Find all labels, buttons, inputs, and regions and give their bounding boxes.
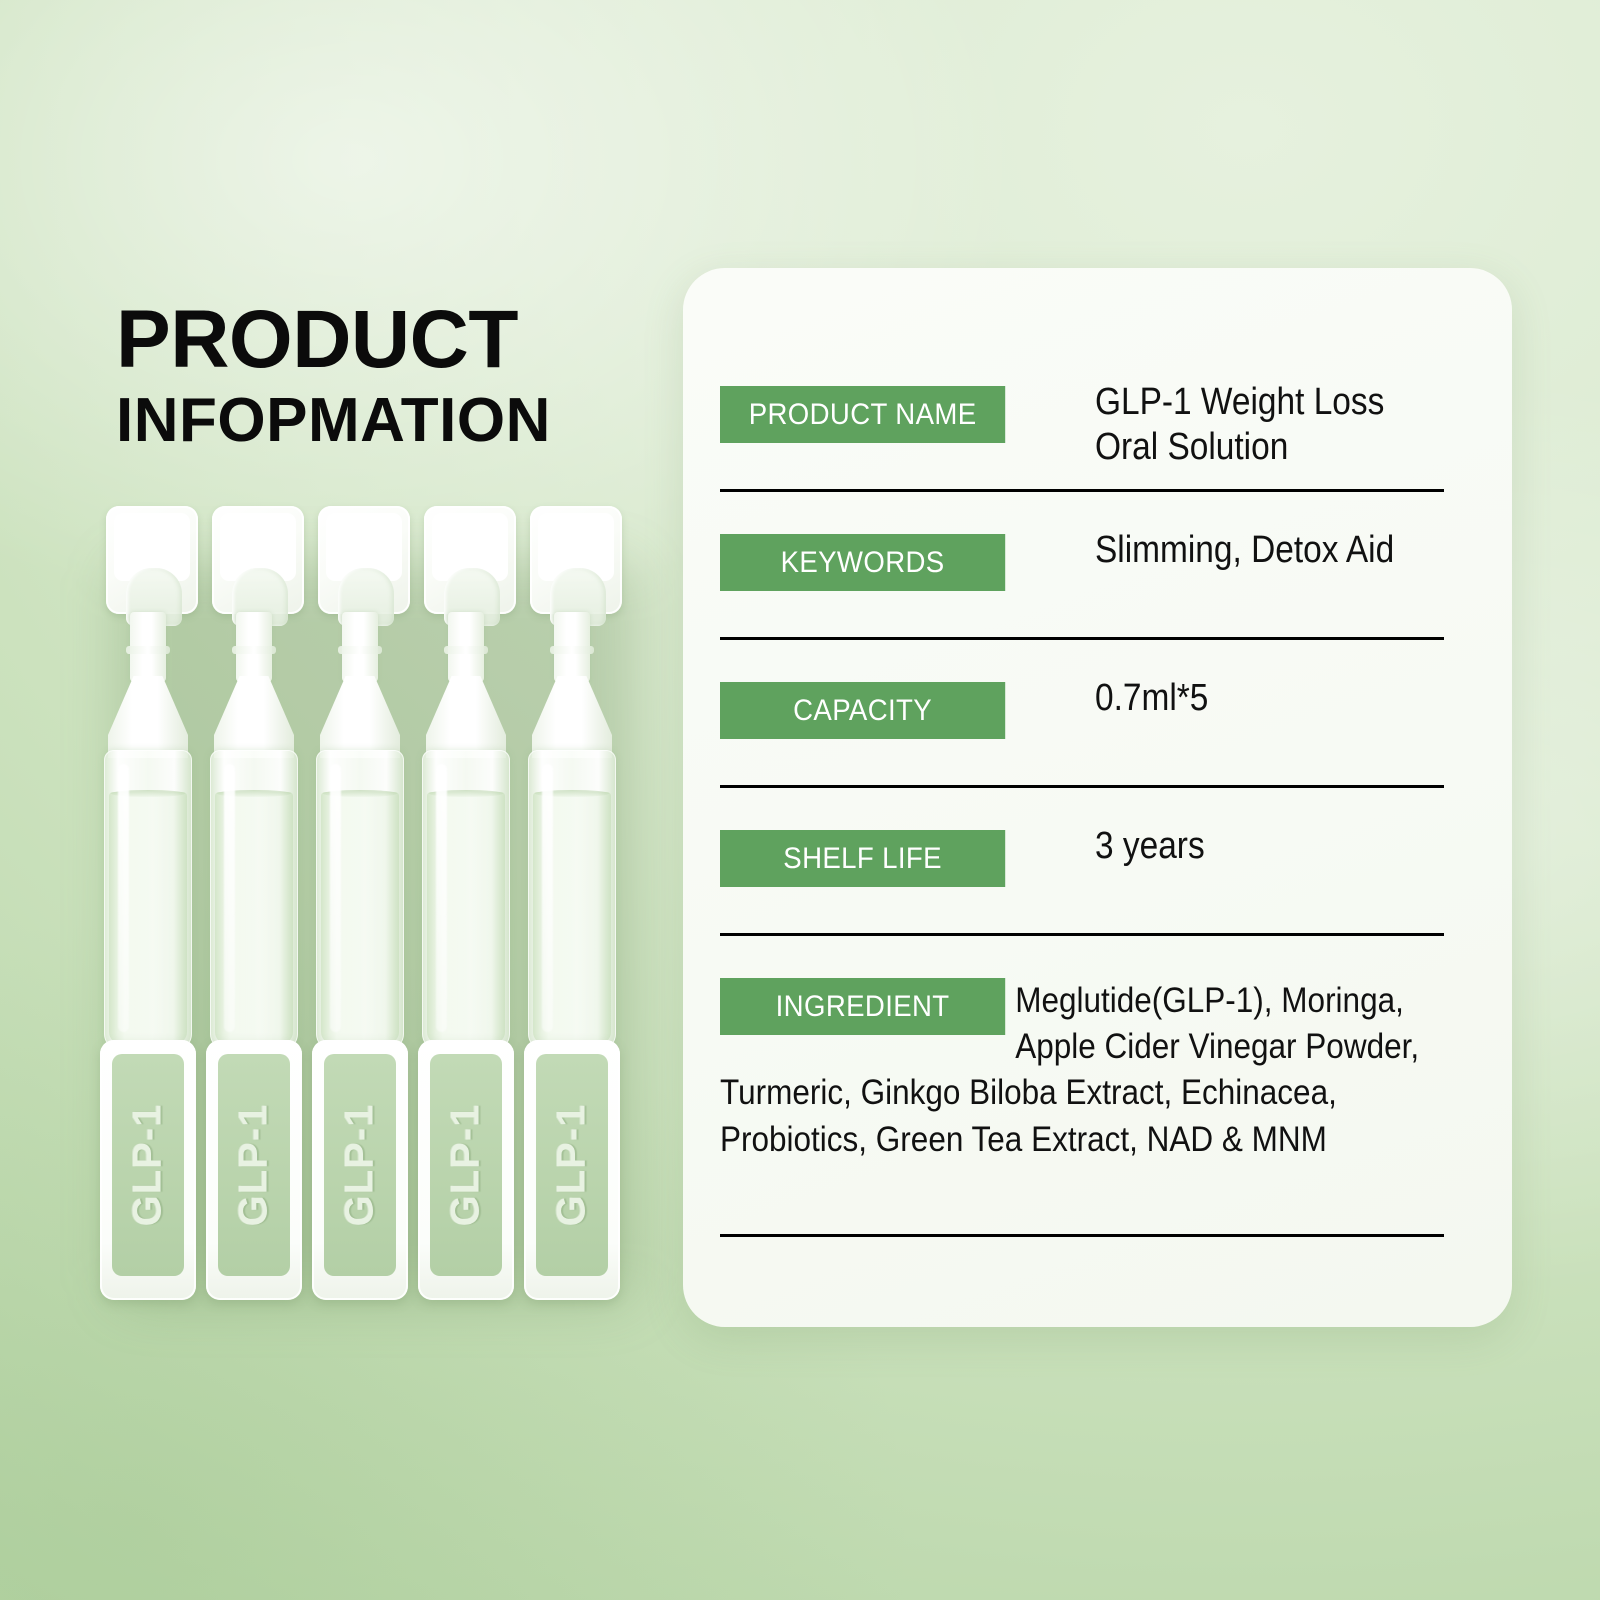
spec-label-text: CAPACITY bbox=[793, 682, 932, 739]
ampoule-glass-highlight bbox=[118, 764, 129, 1032]
ampoule-label: GLP-1 bbox=[324, 1054, 396, 1276]
ampoule-label: GLP-1 bbox=[112, 1054, 184, 1276]
ampoule-cap-icon bbox=[424, 506, 516, 614]
ampoule-label-text: GLP-1 bbox=[550, 1104, 595, 1227]
ampoule-vial: GLP-1 bbox=[96, 500, 200, 1300]
ampoule-body bbox=[316, 750, 404, 1050]
ampoule-body bbox=[528, 750, 616, 1050]
spec-label-keywords: KEYWORDS bbox=[720, 534, 1005, 591]
ampoule-neck-ring bbox=[444, 646, 488, 654]
ampoule-shoulder bbox=[532, 676, 612, 758]
ampoule-label-text: GLP-1 bbox=[444, 1104, 489, 1227]
ampoule-body bbox=[422, 750, 510, 1050]
ampoule-vial: GLP-1 bbox=[520, 500, 624, 1300]
ampoule-base: GLP-1 bbox=[312, 1040, 408, 1300]
ampoule-neck-ring bbox=[126, 646, 170, 654]
page-title: PRODUCT INFOPMATION bbox=[116, 300, 551, 453]
ampoule-base: GLP-1 bbox=[100, 1040, 196, 1300]
spec-value-ingredient: Meglutide(GLP-1), Moringa, Apple Cider V… bbox=[720, 978, 1481, 1163]
ampoule-neck-ring bbox=[338, 646, 382, 654]
ampoule-base: GLP-1 bbox=[418, 1040, 514, 1300]
product-information-graphic: PRODUCT INFOPMATION GLP-1 bbox=[0, 0, 1600, 1600]
spec-label-badge-wrap: CAPACITY bbox=[720, 682, 1030, 739]
spec-value-wrap: 0.7ml*5 bbox=[1095, 676, 1505, 721]
ampoule-cap-icon bbox=[106, 506, 198, 614]
product-ampoule-group: GLP-1 GLP-1 bbox=[88, 500, 648, 1310]
ampoule-vial: GLP-1 bbox=[308, 500, 412, 1300]
ampoule-shoulder bbox=[108, 676, 188, 758]
ampoule-shoulder bbox=[426, 676, 506, 758]
ampoule-shoulder bbox=[320, 676, 400, 758]
ampoule-body bbox=[104, 750, 192, 1050]
spec-value-keywords: Slimming, Detox Aid bbox=[1095, 528, 1456, 573]
page-title-line-2: INFOPMATION bbox=[116, 388, 551, 453]
ampoule-glass-highlight bbox=[542, 764, 553, 1032]
ampoule-label-text: GLP-1 bbox=[126, 1104, 171, 1227]
spec-label-product-name: PRODUCT NAME bbox=[720, 386, 1005, 443]
ampoule-shoulder bbox=[214, 676, 294, 758]
spec-label-text: KEYWORDS bbox=[781, 534, 945, 591]
spec-label-text: SHELF LIFE bbox=[783, 830, 942, 887]
ampoule-vial: GLP-1 bbox=[414, 500, 518, 1300]
spec-divider bbox=[720, 785, 1444, 788]
ampoule-label-text: GLP-1 bbox=[232, 1104, 277, 1227]
ampoule-vial: GLP-1 bbox=[202, 500, 306, 1300]
spec-divider bbox=[720, 1234, 1444, 1237]
spec-label-badge-wrap: PRODUCT NAME bbox=[720, 386, 1030, 443]
ampoule-glass-highlight bbox=[224, 764, 235, 1032]
ampoule-neck-ring bbox=[550, 646, 594, 654]
ampoule-cap-icon bbox=[530, 506, 622, 614]
ampoule-glass-highlight bbox=[436, 764, 447, 1032]
spec-label-badge-wrap: SHELF LIFE bbox=[720, 830, 1030, 887]
spec-value-product-name: GLP-1 Weight Loss Oral Solution bbox=[1095, 380, 1456, 470]
ampoule-glass-highlight bbox=[330, 764, 341, 1032]
spec-value-wrap: GLP-1 Weight Loss Oral Solution bbox=[1095, 380, 1505, 470]
spec-value-wrap: Slimming, Detox Aid bbox=[1095, 528, 1505, 573]
ampoule-label: GLP-1 bbox=[218, 1054, 290, 1276]
ampoule-label: GLP-1 bbox=[536, 1054, 608, 1276]
product-info-card: PRODUCT NAME GLP-1 Weight Loss Oral Solu… bbox=[683, 268, 1512, 1327]
spec-divider bbox=[720, 637, 1444, 640]
ampoule-cap-icon bbox=[318, 506, 410, 614]
spec-label-text: PRODUCT NAME bbox=[749, 386, 977, 443]
spec-label-badge-wrap: KEYWORDS bbox=[720, 534, 1030, 591]
page-title-line-1: PRODUCT bbox=[116, 300, 551, 380]
ampoule-cap-icon bbox=[212, 506, 304, 614]
spec-row-ingredient: INGREDIENT Meglutide(GLP-1), Moringa, Ap… bbox=[720, 978, 1480, 1163]
spec-value-capacity: 0.7ml*5 bbox=[1095, 676, 1456, 721]
spec-label-shelf-life: SHELF LIFE bbox=[720, 830, 1005, 887]
ampoule-label-text: GLP-1 bbox=[338, 1104, 383, 1227]
spec-divider bbox=[720, 933, 1444, 936]
spec-label-capacity: CAPACITY bbox=[720, 682, 1005, 739]
ampoule-neck-ring bbox=[232, 646, 276, 654]
spec-value-shelf-life: 3 years bbox=[1095, 824, 1456, 869]
ampoule-base: GLP-1 bbox=[524, 1040, 620, 1300]
spec-divider bbox=[720, 489, 1444, 492]
spec-value-wrap: 3 years bbox=[1095, 824, 1505, 869]
ampoule-base: GLP-1 bbox=[206, 1040, 302, 1300]
ampoule-body bbox=[210, 750, 298, 1050]
ampoule-label: GLP-1 bbox=[430, 1054, 502, 1276]
